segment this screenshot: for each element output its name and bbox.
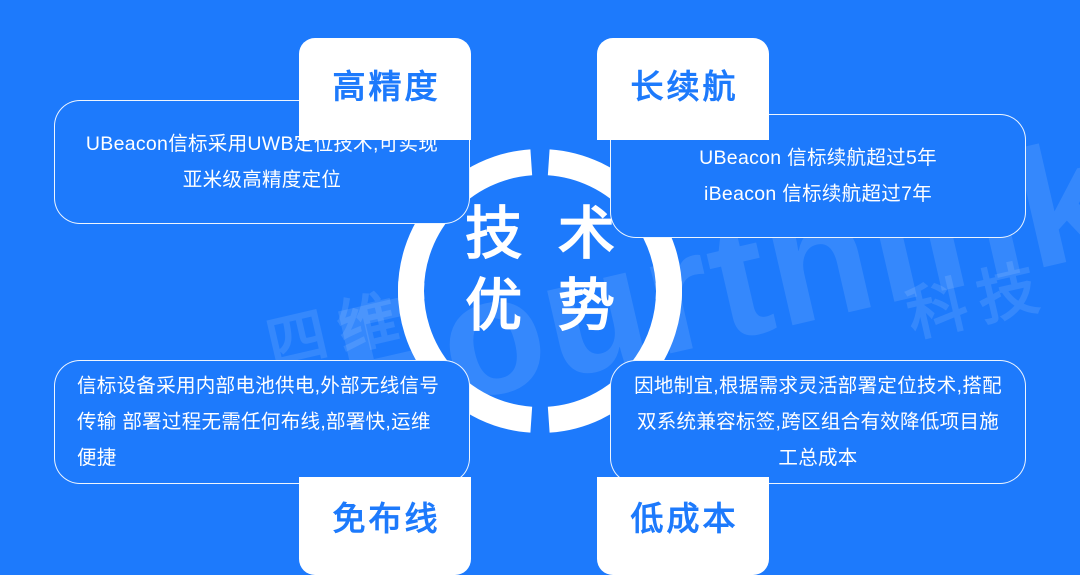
infographic-canvas: Fourthink 四维 科技 UBeacon信标采用UWB定位技术,可实现亚米… (0, 0, 1080, 575)
watermark-cn-right-text: 科技 (897, 237, 1057, 354)
label-low-cost-text: 低成本 (628, 492, 739, 540)
label-long-endurance-text: 长续航 (628, 60, 739, 108)
label-low-cost[interactable]: 低成本 (597, 477, 769, 575)
center-title-line1: 技 术 (362, 198, 718, 270)
card-no-wiring[interactable]: 信标设备采用内部电池供电,外部无线信号传输 部署过程无需任何布线,部署快,运维便… (54, 360, 470, 484)
card-low-cost[interactable]: 因地制宜,根据需求灵活部署定位技术,搭配双系统兼容标签,跨区组合有效降低项目施工… (610, 360, 1026, 484)
card-no-wiring-body: 信标设备采用内部电池供电,外部无线信号传输 部署过程无需任何布线,部署快,运维便… (77, 368, 447, 476)
label-high-precision-text: 高精度 (330, 60, 441, 108)
center-title: 技 术 优 势 (362, 198, 718, 342)
label-no-wiring[interactable]: 免布线 (299, 477, 471, 575)
label-high-precision[interactable]: 高精度 (299, 38, 471, 140)
card-low-cost-body: 因地制宜,根据需求灵活部署定位技术,搭配双系统兼容标签,跨区组合有效降低项目施工… (633, 368, 1003, 476)
center-title-line2: 优 势 (362, 270, 718, 342)
label-no-wiring-text: 免布线 (330, 492, 441, 540)
label-long-endurance[interactable]: 长续航 (597, 38, 769, 140)
